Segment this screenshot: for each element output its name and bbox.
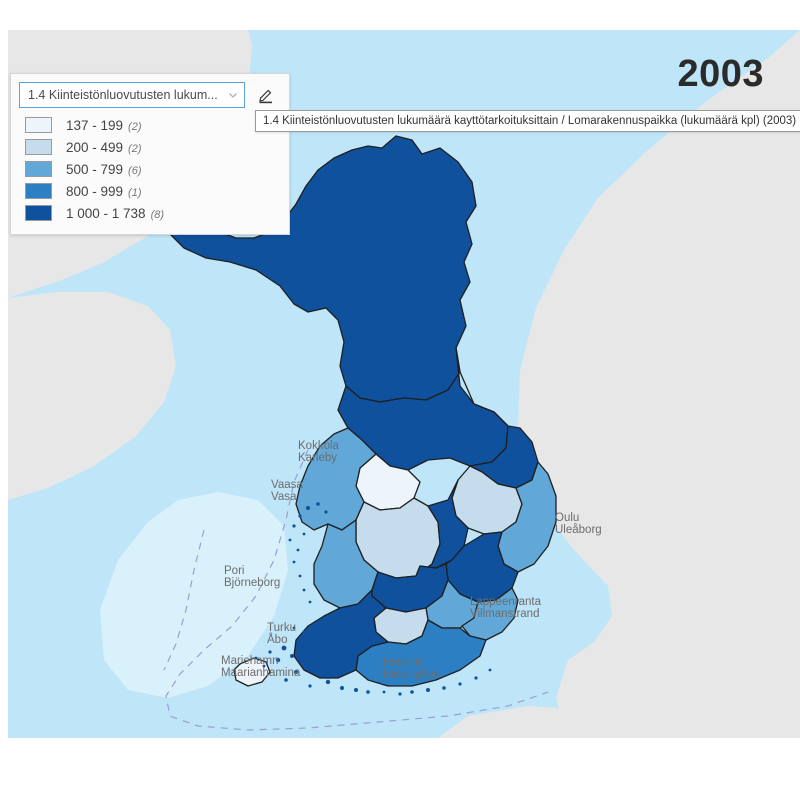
map-application: KokkolaKarlebyVaasaVasaPoriBjörneborgTur… — [0, 0, 800, 800]
legend-item[interactable]: 800 - 999(1) — [11, 180, 289, 202]
legend-label: 137 - 199(2) — [66, 118, 142, 133]
variable-select-value: 1.4 Kiinteistönluovutusten lukum... — [28, 88, 222, 102]
legend-count: (8) — [151, 209, 164, 221]
legend-swatch — [25, 183, 52, 199]
legend-panel[interactable]: 1.4 Kiinteistönluovutusten lukum... 137 … — [10, 73, 290, 235]
legend-count: (1) — [128, 187, 141, 199]
legend-swatch — [25, 139, 52, 155]
legend-count: (2) — [128, 143, 141, 155]
legend-item[interactable]: 137 - 199(2) — [11, 114, 289, 136]
legend-item[interactable]: 1 000 - 1 738(8) — [11, 202, 289, 224]
variable-selector-row: 1.4 Kiinteistönluovutusten lukum... — [11, 74, 289, 114]
legend-label: 500 - 799(6) — [66, 162, 142, 177]
legend-label: 200 - 499(2) — [66, 140, 142, 155]
year-label: 2003 — [677, 55, 764, 93]
chevron-down-icon[interactable] — [226, 88, 240, 102]
edit-pencil-icon[interactable] — [257, 86, 275, 104]
legend-swatch — [25, 161, 52, 177]
legend-label: 1 000 - 1 738(8) — [66, 206, 164, 221]
legend-swatch — [25, 205, 52, 221]
variable-select[interactable]: 1.4 Kiinteistönluovutusten lukum... — [19, 82, 245, 108]
legend-label: 800 - 999(1) — [66, 184, 142, 199]
legend-items: 137 - 199(2)200 - 499(2)500 - 799(6)800 … — [11, 114, 289, 224]
legend-count: (2) — [128, 121, 141, 133]
legend-item[interactable]: 200 - 499(2) — [11, 136, 289, 158]
variable-tooltip: 1.4 Kiinteistönluovutusten lukumäärä kay… — [255, 110, 800, 132]
legend-count: (6) — [128, 165, 141, 177]
legend-item[interactable]: 500 - 799(6) — [11, 158, 289, 180]
legend-swatch — [25, 117, 52, 133]
